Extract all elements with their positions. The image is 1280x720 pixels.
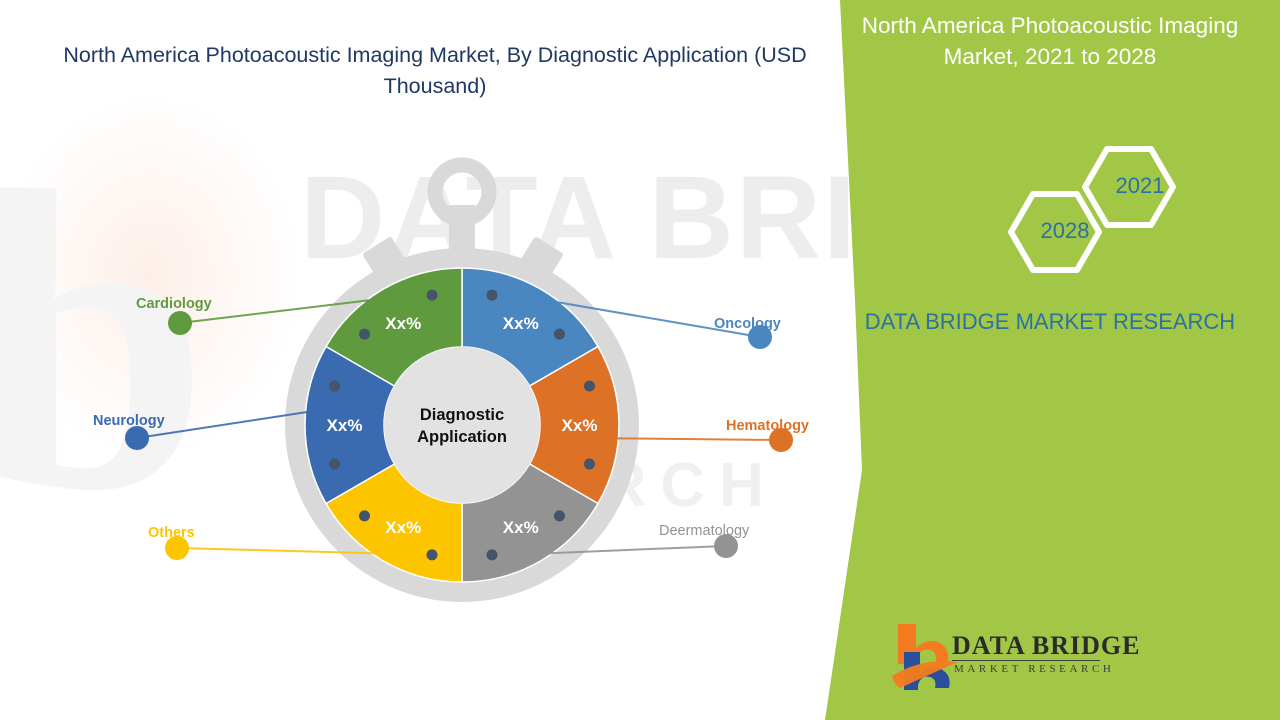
watermark-letter: b: [0, 95, 211, 589]
callout-dot-neurology[interactable]: [125, 426, 149, 450]
brand-panel-shape: [820, 0, 1280, 720]
callout-label-deermatology[interactable]: Deermatology: [659, 523, 749, 539]
slice-dot: [554, 329, 565, 340]
page-title: North America Photoacoustic Imaging Mark…: [20, 40, 850, 102]
logo-divider: [952, 660, 1100, 661]
slice-dot: [584, 381, 595, 392]
brand-panel: North America Photoacoustic Imaging Mark…: [820, 0, 1280, 720]
slice-dot: [486, 290, 497, 301]
slice-dot: [359, 510, 370, 521]
logo-name: DATA BRIDGE: [952, 631, 1140, 661]
slice-dot: [427, 549, 438, 560]
slice-dot: [359, 329, 370, 340]
slice-value-deermatology: Xx%: [503, 518, 539, 537]
panel-title: North America Photoacoustic Imaging Mark…: [820, 10, 1280, 72]
donut-chart: Xx%Xx%Xx%Xx%Xx%Xx% Diagnostic Applicatio…: [250, 150, 675, 620]
slice-value-oncology: Xx%: [503, 314, 539, 333]
center-label-line2: Application: [417, 428, 507, 446]
callout-label-cardiology[interactable]: Cardiology: [136, 296, 212, 312]
callout-label-hematology[interactable]: Hematology: [726, 418, 809, 434]
company-logo: DATA BRIDGE MARKET RESEARCH: [890, 618, 1105, 698]
donut-hub: [384, 347, 540, 503]
slice-value-hematology: Xx%: [562, 416, 598, 435]
infographic-canvas: b DATA BRIDGE RESEARCH North America Pho…: [0, 0, 1280, 720]
callout-label-others[interactable]: Others: [148, 525, 195, 541]
logo-tagline: MARKET RESEARCH: [954, 663, 1114, 675]
slice-dot: [329, 381, 340, 392]
slice-value-others: Xx%: [385, 518, 421, 537]
center-label-line1: Diagnostic: [420, 406, 504, 424]
slice-dot: [486, 549, 497, 560]
logo-mark-icon: [890, 618, 960, 696]
slice-value-neurology: Xx%: [327, 416, 363, 435]
callout-label-oncology[interactable]: Oncology: [714, 316, 781, 332]
slice-dot: [554, 510, 565, 521]
brand-name-text: DATA BRIDGE MARKET RESEARCH: [820, 307, 1280, 336]
slice-dot: [329, 458, 340, 469]
slice-dot: [427, 290, 438, 301]
slice-dot: [584, 458, 595, 469]
slice-value-cardiology: Xx%: [385, 314, 421, 333]
callout-dot-cardiology[interactable]: [168, 311, 192, 335]
callout-label-neurology[interactable]: Neurology: [93, 413, 165, 429]
